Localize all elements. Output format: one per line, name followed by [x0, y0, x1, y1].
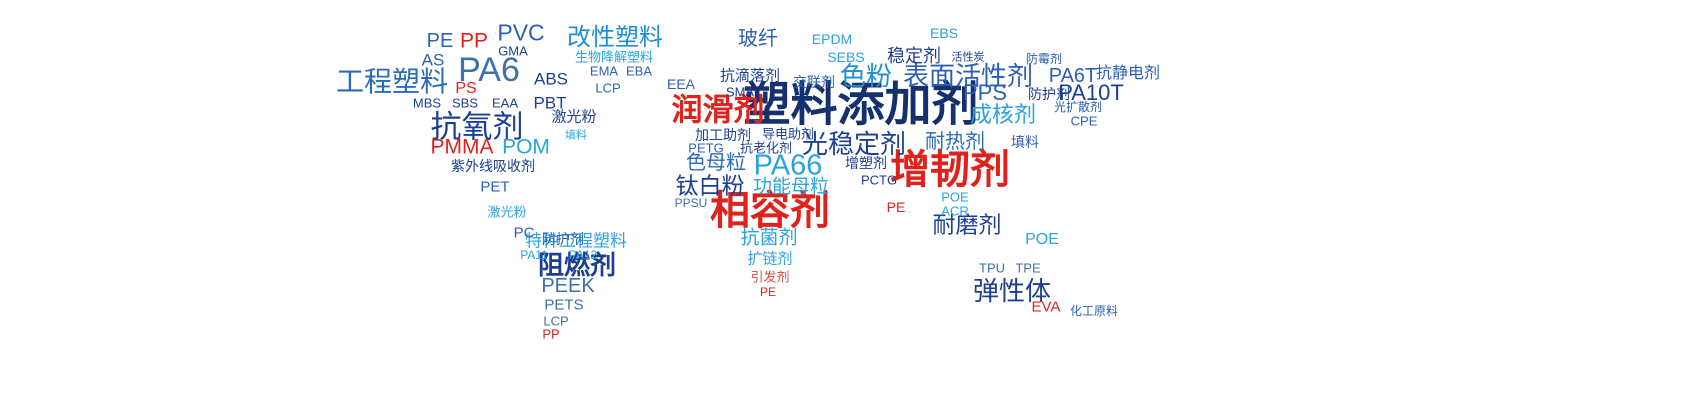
word-cloud-term[interactable]: PMMA — [431, 137, 494, 158]
word-cloud-term[interactable]: PVC — [497, 22, 544, 45]
word-cloud-term[interactable]: EPDM — [812, 32, 852, 46]
word-cloud-term[interactable]: PE — [887, 200, 906, 214]
word-cloud-term[interactable]: PCTG — [861, 174, 897, 187]
word-cloud-term[interactable]: EVA — [1032, 300, 1061, 315]
word-cloud-term[interactable]: POE — [941, 191, 968, 204]
word-cloud-term[interactable]: ABS — [534, 71, 568, 88]
word-cloud-term[interactable]: 导电助剂 — [762, 128, 814, 141]
word-cloud-term[interactable]: 激光粉 — [551, 110, 596, 125]
word-cloud-term[interactable]: 交联剂 — [793, 75, 835, 89]
word-cloud-term[interactable]: PC — [514, 226, 535, 241]
word-cloud-term[interactable]: 扩链剂 — [747, 252, 792, 267]
word-cloud-term[interactable]: PP — [542, 328, 559, 341]
word-cloud-term[interactable]: 引发剂 — [750, 271, 789, 284]
word-cloud-term[interactable]: POE — [1025, 232, 1059, 248]
word-cloud-term[interactable]: 色母粒 — [686, 153, 746, 173]
word-cloud-term[interactable]: 增塑剂 — [845, 156, 887, 170]
word-cloud-term[interactable]: 稳定剂 — [887, 47, 941, 65]
word-cloud-canvas: 塑料添加剂增韧剂相容剂润滑剂表面活性剂工程塑料抗氧剂光稳定剂改性塑料阻燃剂弹性体… — [0, 0, 1707, 400]
word-cloud-term[interactable]: POM — [502, 137, 550, 158]
word-cloud-term[interactable]: 化工原料 — [1070, 305, 1118, 317]
word-cloud-term[interactable]: 色粉 — [840, 63, 892, 89]
word-cloud-term[interactable]: EEA — [667, 77, 695, 91]
word-cloud-term[interactable]: 工程塑料 — [336, 68, 448, 96]
word-cloud-term[interactable]: 防护剂 — [1028, 87, 1070, 101]
word-cloud-term[interactable]: PEEK — [541, 276, 594, 296]
word-cloud-term[interactable]: 活性炭 — [952, 53, 985, 64]
word-cloud-term[interactable]: PE — [760, 286, 776, 298]
word-cloud-term[interactable]: EMA — [590, 65, 618, 78]
word-cloud-term[interactable]: 成核剂 — [970, 104, 1036, 126]
word-cloud-term[interactable]: CPE — [1071, 115, 1098, 128]
word-cloud-term[interactable]: ACR — [941, 205, 968, 218]
word-cloud-term[interactable]: EAA — [492, 97, 518, 110]
word-cloud-term[interactable]: 防护剂 — [542, 232, 584, 246]
word-cloud-term[interactable]: LCP — [595, 82, 620, 95]
word-cloud-term[interactable]: 填料 — [565, 131, 587, 142]
word-cloud-term[interactable]: PA12 — [569, 249, 597, 261]
word-cloud-term[interactable]: 抗菌剂 — [740, 229, 797, 248]
word-cloud-term[interactable]: 改性塑料 — [567, 26, 663, 50]
word-cloud-term[interactable]: PET — [480, 180, 509, 195]
word-cloud-term[interactable]: PE — [427, 31, 454, 51]
word-cloud-term[interactable]: PA11 — [520, 249, 548, 261]
word-cloud-term[interactable]: TPU — [979, 262, 1005, 275]
word-cloud-term[interactable]: 紫外线吸收剂 — [451, 159, 535, 173]
word-cloud-term[interactable]: 耐热剂 — [925, 132, 985, 152]
word-cloud-term[interactable]: SEBS — [827, 50, 864, 64]
word-cloud-term[interactable]: TPE — [1015, 262, 1040, 275]
word-cloud-term[interactable]: EBS — [930, 26, 958, 40]
word-cloud-term[interactable]: 功能母粒 — [753, 178, 829, 197]
word-cloud-term[interactable]: 玻纤 — [738, 29, 778, 49]
word-cloud-term[interactable]: EBA — [626, 65, 652, 78]
word-cloud-term[interactable]: MBS — [413, 97, 441, 110]
word-cloud-term[interactable]: 抗滴落剂 — [720, 69, 780, 84]
word-cloud-term[interactable]: PPS — [963, 82, 1007, 104]
word-cloud-term[interactable]: SBS — [452, 97, 478, 110]
word-cloud-term[interactable]: 增韧剂 — [890, 150, 1010, 190]
word-cloud-term[interactable]: 抗老化剂 — [740, 142, 792, 155]
word-cloud-term[interactable]: PPSU — [675, 197, 708, 209]
word-cloud-term[interactable]: 生物降解塑料 — [575, 51, 653, 64]
word-cloud-term[interactable]: 抗静电剂 — [1096, 66, 1160, 82]
word-cloud-term[interactable]: 防霉剂 — [1026, 53, 1062, 65]
word-cloud-term[interactable]: PETG — [688, 142, 723, 155]
word-cloud-term[interactable]: PP — [460, 31, 488, 52]
word-cloud-term[interactable]: GMA — [498, 45, 528, 58]
word-cloud-term[interactable]: SMA — [726, 86, 754, 99]
word-cloud-term[interactable]: 填料 — [1011, 135, 1039, 149]
word-cloud-term[interactable]: PA6T — [1049, 66, 1098, 86]
word-cloud-term[interactable]: 光扩散剂 — [1054, 101, 1102, 113]
word-cloud-term[interactable]: 激光粉 — [487, 206, 526, 219]
word-cloud-term[interactable]: 钛白粉 — [676, 175, 745, 198]
word-cloud-term[interactable]: PETS — [544, 298, 583, 313]
word-cloud-term[interactable]: AS — [422, 52, 445, 69]
